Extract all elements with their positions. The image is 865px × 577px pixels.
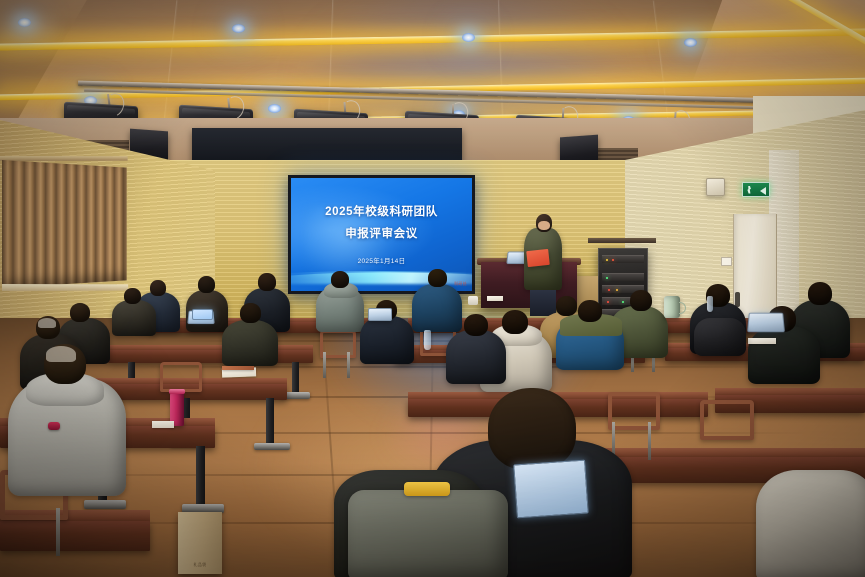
laptop[interactable] xyxy=(368,308,392,321)
backpack[interactable] xyxy=(694,318,746,356)
attendee-jacket xyxy=(360,316,414,364)
arrow-glyph xyxy=(760,187,766,195)
conference-room-photo: 2025年校级科研团队 申报评审会议 2025年1月14日 科研处 xyxy=(0,0,865,577)
emergency-exit-icon xyxy=(742,182,770,197)
attendee-jacket xyxy=(756,470,865,577)
thermos-lid xyxy=(169,389,185,394)
door-handle[interactable] xyxy=(735,292,740,307)
ceiling-downlight xyxy=(684,38,697,47)
table-leg xyxy=(196,446,205,508)
ceiling-downlight xyxy=(268,104,281,113)
slide-title-line2: 申报评审会议 xyxy=(291,225,472,241)
chair[interactable] xyxy=(608,392,660,430)
running-man-glyph xyxy=(747,186,751,194)
slide-logo: 科研处 xyxy=(454,281,467,287)
documents[interactable] xyxy=(152,421,174,428)
chair-leg xyxy=(56,508,60,556)
hair-clip xyxy=(38,318,56,328)
status-led xyxy=(606,277,608,279)
table-row xyxy=(0,521,150,551)
chair-leg xyxy=(347,352,350,378)
paper-bag-label: 礼品袋 xyxy=(178,562,222,568)
small-case[interactable] xyxy=(48,422,60,430)
window-curtains[interactable] xyxy=(2,160,127,288)
water-bottle[interactable] xyxy=(707,296,713,312)
attendee-jacket xyxy=(112,300,156,336)
tissue-box xyxy=(468,296,478,305)
table-leg xyxy=(266,398,274,444)
presenter-folder xyxy=(526,249,550,267)
documents[interactable] xyxy=(487,296,503,301)
attendee-head xyxy=(124,288,141,304)
window-sill xyxy=(2,284,128,291)
wall-speaker xyxy=(706,178,725,196)
chair-leg xyxy=(323,352,326,378)
table-leg xyxy=(292,362,299,394)
ceiling-downlight xyxy=(462,33,475,42)
backpack[interactable] xyxy=(348,490,508,577)
paper-bag[interactable]: 礼品袋 xyxy=(178,512,222,574)
table-foot xyxy=(254,443,290,450)
ceiling-downlight xyxy=(232,24,245,33)
slide-date: 2025年1月14日 xyxy=(291,255,472,265)
hair-clip xyxy=(46,346,76,362)
attendee-jacket xyxy=(222,320,278,366)
attendee-jacket xyxy=(412,284,462,332)
status-led xyxy=(616,289,618,291)
table-foot xyxy=(84,500,126,509)
attendee-head xyxy=(70,303,90,322)
water-bottle[interactable] xyxy=(424,330,431,350)
attendee-head xyxy=(630,290,652,311)
chair[interactable] xyxy=(700,400,754,440)
chair[interactable] xyxy=(160,362,202,392)
attendee-head xyxy=(331,271,349,288)
rack-unit xyxy=(602,273,644,281)
attendee-head xyxy=(502,310,528,334)
status-led xyxy=(612,259,614,261)
laptop-screen[interactable] xyxy=(513,460,589,519)
attendee-head xyxy=(488,388,576,470)
attendee-head xyxy=(464,314,488,336)
attendee-head xyxy=(428,269,447,287)
document-folder[interactable] xyxy=(222,366,254,370)
attendee-head xyxy=(556,296,577,316)
laptop[interactable] xyxy=(747,313,785,332)
status-led xyxy=(608,289,610,291)
attendee-head xyxy=(240,303,261,323)
green-thermos[interactable] xyxy=(664,296,680,318)
laptop-screen[interactable] xyxy=(192,309,213,320)
documents[interactable] xyxy=(748,338,776,344)
presenter-face xyxy=(538,221,550,230)
attendee-head xyxy=(258,273,276,291)
table-row xyxy=(108,350,313,363)
attendee-jacket xyxy=(748,326,820,384)
light-switch[interactable] xyxy=(721,257,732,266)
attendee-jacket xyxy=(446,330,506,384)
status-led xyxy=(607,301,609,303)
status-led xyxy=(606,259,608,261)
backpack-tag xyxy=(404,482,450,496)
attendee-head xyxy=(808,282,832,305)
rack-unit xyxy=(602,255,644,263)
av-shelf xyxy=(588,238,656,243)
status-led xyxy=(622,301,624,303)
attendee-head xyxy=(198,276,215,293)
attendee-head xyxy=(578,300,602,322)
chair-leg xyxy=(648,422,651,460)
presenter-trousers xyxy=(530,290,556,316)
slide-title-line1: 2025年校级科研团队 xyxy=(291,203,472,219)
attendee-head xyxy=(150,280,166,296)
